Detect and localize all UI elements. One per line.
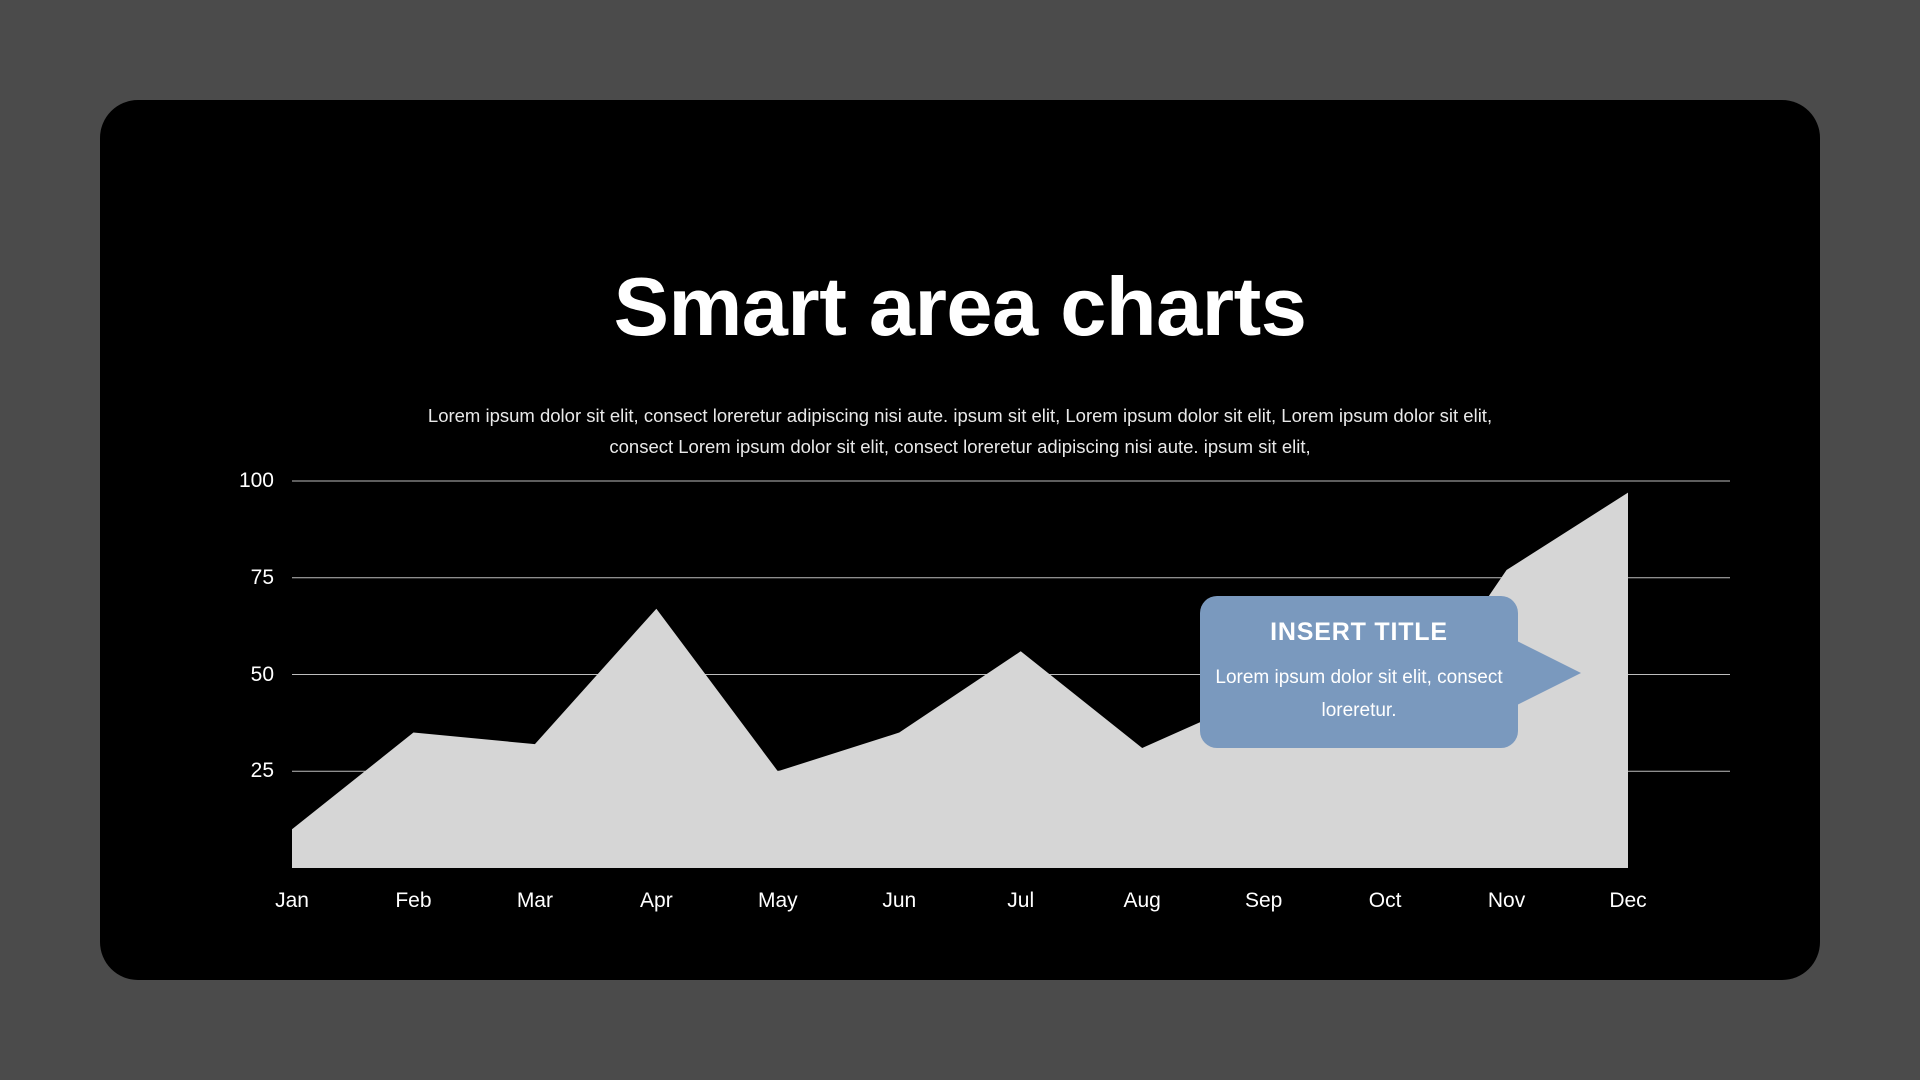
x-axis-tick-label: Dec bbox=[1573, 890, 1683, 911]
x-axis-tick-label: Mar bbox=[480, 890, 590, 911]
x-axis-tick-label: Sep bbox=[1209, 890, 1319, 911]
x-axis-tick-label: Nov bbox=[1452, 890, 1562, 911]
x-axis-tick-label: Apr bbox=[601, 890, 711, 911]
callout-title: INSERT TITLE bbox=[1200, 620, 1518, 645]
slide-canvas: Smart area charts Lorem ipsum dolor sit … bbox=[0, 0, 1920, 1080]
callout-body: Lorem ipsum dolor sit elit, consect lore… bbox=[1200, 661, 1518, 727]
y-axis-tick-label: 25 bbox=[204, 760, 274, 781]
x-axis-tick-label: May bbox=[723, 890, 833, 911]
x-axis-tick-label: Oct bbox=[1330, 890, 1440, 911]
x-axis-tick-label: Aug bbox=[1087, 890, 1197, 911]
y-axis-tick-label: 100 bbox=[204, 470, 274, 491]
y-axis-tick-label: 75 bbox=[204, 567, 274, 588]
x-axis-tick-label: Jul bbox=[966, 890, 1076, 911]
x-axis-tick-label: Jan bbox=[237, 890, 347, 911]
y-axis-tick-label: 50 bbox=[204, 664, 274, 685]
callout-bubble[interactable]: INSERT TITLE Lorem ipsum dolor sit elit,… bbox=[1200, 596, 1518, 748]
x-axis-tick-label: Feb bbox=[358, 890, 468, 911]
x-axis-tick-label: Jun bbox=[844, 890, 954, 911]
chart-svg bbox=[100, 100, 1820, 980]
area-chart: 100755025 JanFebMarAprMayJunJulAugSepOct… bbox=[100, 100, 1820, 980]
callout-pointer-icon bbox=[1517, 641, 1581, 705]
slide-card: Smart area charts Lorem ipsum dolor sit … bbox=[100, 100, 1820, 980]
